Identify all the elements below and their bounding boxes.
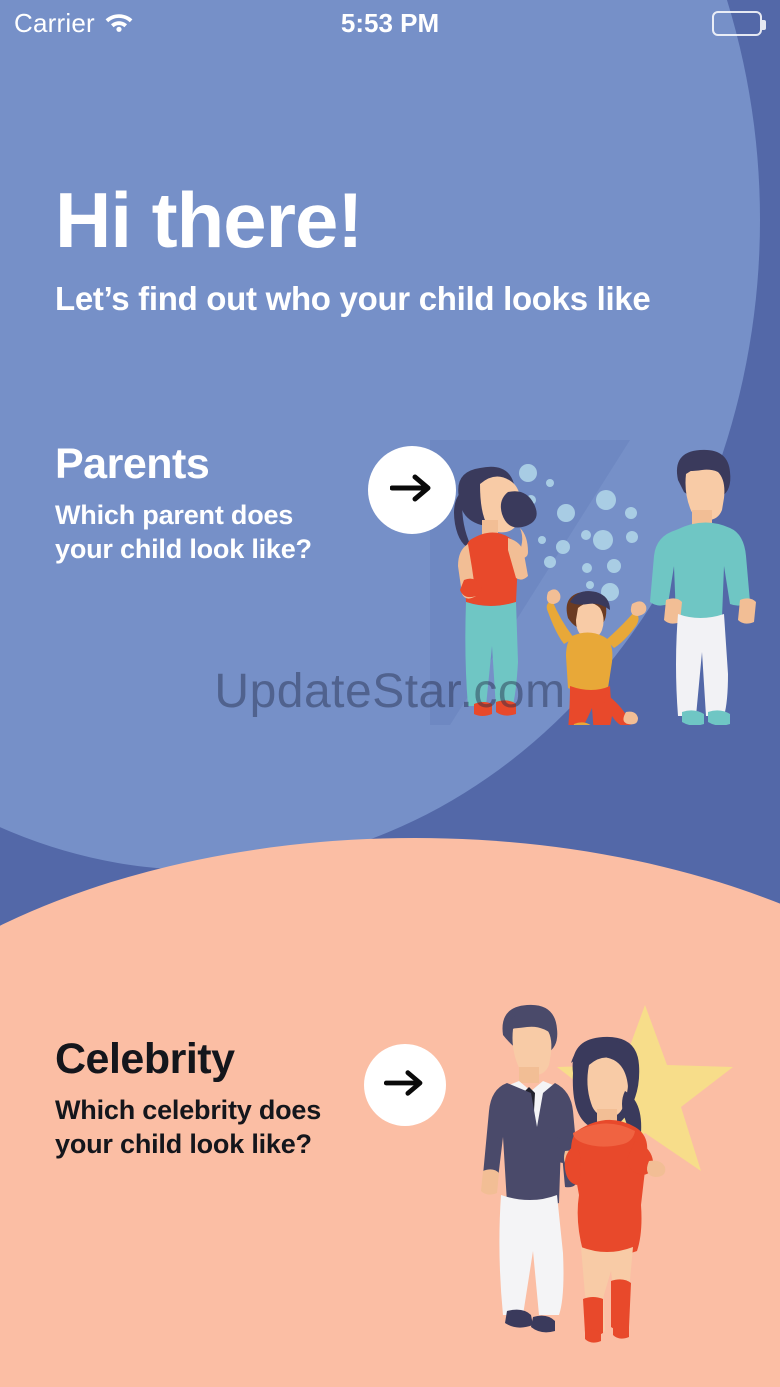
parents-title: Parents [55,443,312,486]
celebrity-title: Celebrity [55,1038,321,1081]
celebrity-description-line2: your child look like? [55,1128,321,1162]
celebrity-couple-illustration [455,995,780,1345]
hero-block: Hi there! Let’s find out who your child … [55,180,651,318]
section-parents[interactable]: Parents Which parent does your child loo… [55,443,456,567]
status-bar-right [712,11,762,36]
parents-description: Which parent does your child look like? [55,499,312,567]
celebrity-text-column: Celebrity Which celebrity does your chil… [55,1038,321,1162]
battery-full-icon [712,11,762,36]
parents-arrow-button[interactable] [368,446,456,534]
parents-description-line1: Which parent does [55,499,312,533]
family-illustration [430,440,780,725]
celebrity-description: Which celebrity does your child look lik… [55,1094,321,1162]
celebrity-description-line1: Which celebrity does [55,1094,321,1128]
page-subtitle: Let’s find out who your child looks like [55,280,651,318]
status-bar: Carrier 5:53 PM [0,0,780,46]
status-bar-time: 5:53 PM [0,8,780,39]
page-title: Hi there! [55,180,651,262]
app-screen: Carrier 5:53 PM Hi there! Let’s find out… [0,0,780,1387]
section-celebrity[interactable]: Celebrity Which celebrity does your chil… [55,1038,446,1162]
arrow-right-icon [390,471,434,510]
parents-description-line2: your child look like? [55,533,312,567]
arrow-right-icon [384,1067,426,1104]
parents-text-column: Parents Which parent does your child loo… [55,443,312,567]
celebrity-arrow-button[interactable] [364,1044,446,1126]
